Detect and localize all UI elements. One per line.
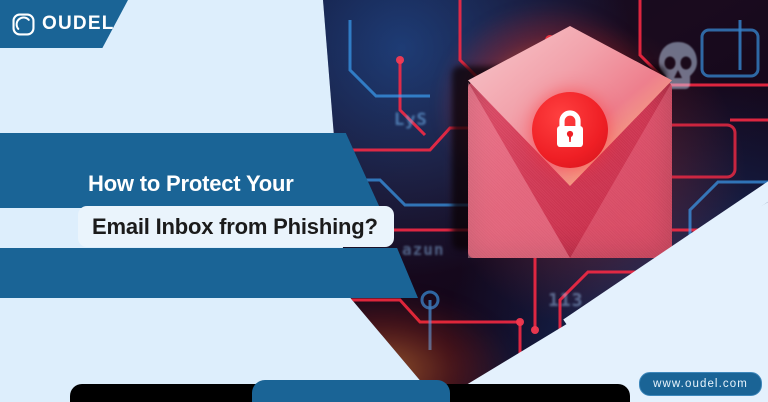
headline-panel-lower: [0, 248, 418, 298]
blog-featured-image-banner: LyS azun 113: [0, 0, 768, 402]
header-bar: OUDEL: [0, 0, 128, 48]
padlock-icon: [550, 108, 590, 152]
headline-line-1: How to Protect Your: [88, 171, 294, 197]
website-url-badge[interactable]: www.oudel.com: [639, 372, 762, 396]
headline-pill: Email Inbox from Phishing?: [78, 206, 394, 247]
brand-logo[interactable]: OUDEL: [12, 13, 115, 36]
headline-line-2: Email Inbox from Phishing?: [92, 214, 378, 240]
circuit-board-background: LyS azun 113: [310, 0, 768, 402]
oudel-swirl-mark-icon: [12, 13, 35, 36]
bottom-bar-blue: [252, 380, 450, 402]
website-url-text: www.oudel.com: [653, 378, 748, 390]
brand-logo-text: OUDEL: [42, 13, 115, 35]
red-envelope-graphic: [460, 30, 680, 265]
lock-badge: [532, 92, 608, 168]
